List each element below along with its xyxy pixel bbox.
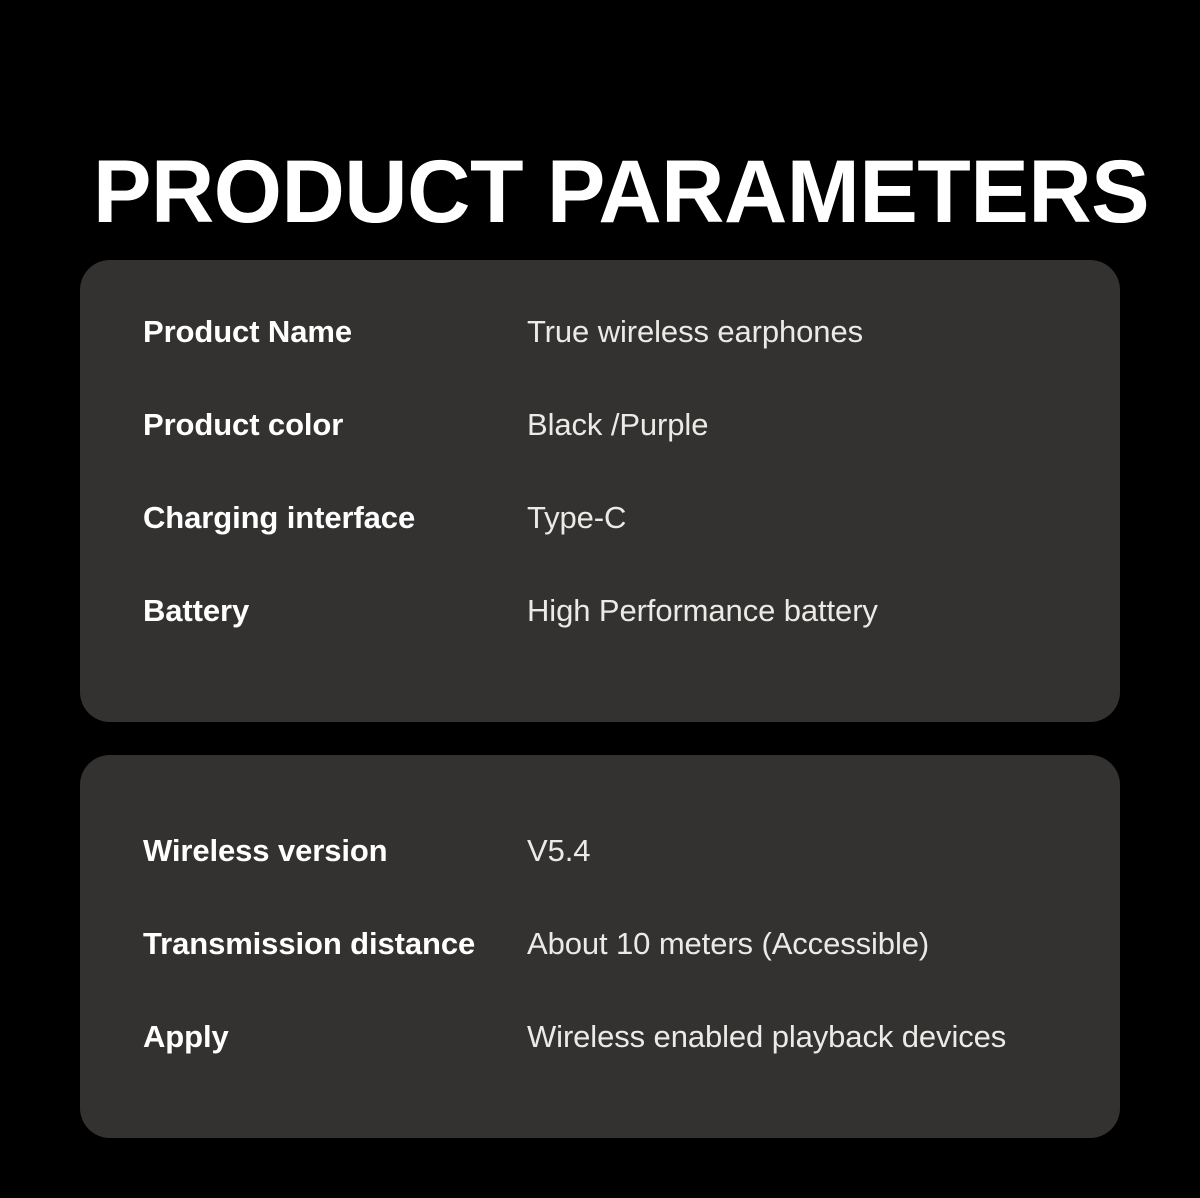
spec-card-general: Product Name True wireless earphones Pro… — [80, 260, 1120, 722]
spec-label: Product color — [143, 407, 527, 443]
product-parameters-page: PRODUCT PARAMETERS Product Name True wir… — [0, 0, 1200, 1198]
spec-row: Product Name True wireless earphones — [80, 314, 1120, 407]
spec-value: About 10 meters (Accessible) — [527, 926, 1090, 962]
spec-label: Charging interface — [143, 500, 527, 536]
spec-row: Apply Wireless enabled playback devices — [80, 1019, 1120, 1112]
spec-label: Battery — [143, 593, 527, 629]
spec-value: High Performance battery — [527, 593, 1090, 629]
spec-value: True wireless earphones — [527, 314, 1090, 350]
spec-row: Battery High Performance battery — [80, 593, 1120, 686]
spec-value: Type-C — [527, 500, 1090, 536]
spec-row: Charging interface Type-C — [80, 500, 1120, 593]
spec-label: Wireless version — [143, 833, 527, 869]
spec-label: Product Name — [143, 314, 527, 350]
spec-card-connectivity: Wireless version V5.4 Transmission dista… — [80, 755, 1120, 1138]
spec-value: Black /Purple — [527, 407, 1090, 443]
spec-label: Apply — [143, 1019, 527, 1055]
spec-row: Product color Black /Purple — [80, 407, 1120, 500]
page-title: PRODUCT PARAMETERS — [93, 143, 1088, 239]
spec-row: Wireless version V5.4 — [80, 833, 1120, 926]
spec-value: Wireless enabled playback devices — [527, 1019, 1090, 1055]
spec-row: Transmission distance About 10 meters (A… — [80, 926, 1120, 1019]
spec-label: Transmission distance — [143, 926, 527, 962]
spec-value: V5.4 — [527, 833, 1090, 869]
